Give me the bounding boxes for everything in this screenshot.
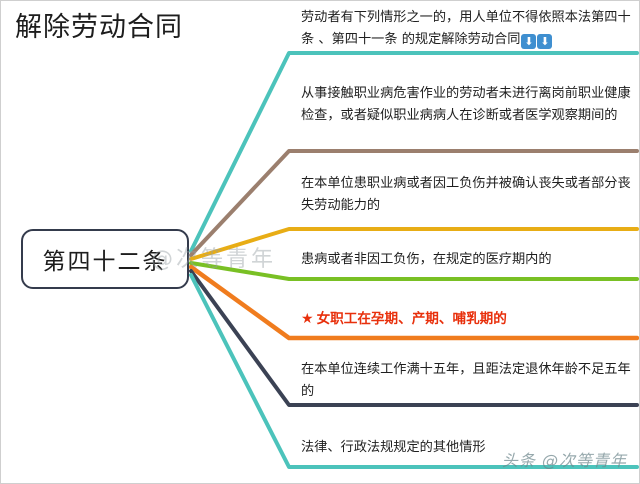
branch-text-7: 法律、行政法规规定的其他情形 — [301, 440, 486, 455]
branch-text-5: 女职工在孕期、产期、哺乳期的 — [317, 311, 507, 327]
branch-item-3[interactable]: 在本单位患职业病或者因工负伤并被确认丧失或者部分丧失劳动能力的 — [301, 173, 633, 217]
central-node-label: 第四十二条 — [43, 242, 168, 276]
down-arrow-icon: ⬇ — [521, 34, 536, 49]
down-arrow-icon: ⬇ — [537, 34, 552, 49]
branch-item-7[interactable]: 法律、行政法规规定的其他情形 — [301, 437, 633, 459]
central-node[interactable]: 第四十二条 — [21, 229, 189, 289]
branch-text-6: 在本单位连续工作满十五年，且距法定退休年龄不足五年的 — [301, 362, 631, 399]
branch-text-1: 劳动者有下列情形之一的，用人单位不得依照本法第四十条 、第四十一条 的规定解除劳… — [301, 10, 631, 47]
branch-item-1[interactable]: 劳动者有下列情形之一的，用人单位不得依照本法第四十条 、第四十一条 的规定解除劳… — [301, 7, 633, 51]
branch-item-2[interactable]: 从事接触职业病危害作业的劳动者未进行离岗前职业健康检查，或者疑似职业病病人在诊断… — [301, 83, 633, 127]
branch-text-2: 从事接触职业病危害作业的劳动者未进行离岗前职业健康检查，或者疑似职业病病人在诊断… — [301, 86, 631, 123]
branch-text-3: 在本单位患职业病或者因工负伤并被确认丧失或者部分丧失劳动能力的 — [301, 176, 631, 213]
branch-item-4[interactable]: 患病或者非因工负伤，在规定的医疗期内的 — [301, 249, 633, 271]
star-icon: ★ — [301, 311, 314, 327]
mindmap-canvas: 解除劳动合同 第四十二条 劳动者有下列情形之一的，用人单位不得依照本法第四十条 … — [0, 0, 640, 484]
branch-item-5[interactable]: ★女职工在孕期、产期、哺乳期的 — [301, 308, 633, 330]
branch-text-4: 患病或者非因工负伤，在规定的医疗期内的 — [301, 252, 552, 267]
branch-item-6[interactable]: 在本单位连续工作满十五年，且距法定退休年龄不足五年的 — [301, 359, 633, 403]
